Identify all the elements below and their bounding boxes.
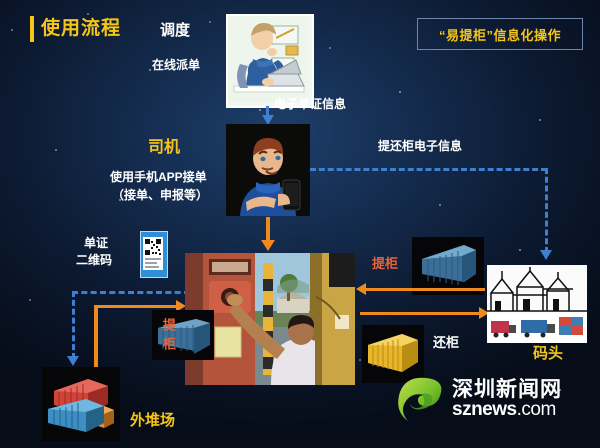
title-accent-bar	[30, 16, 34, 42]
dispatcher-art	[228, 16, 308, 102]
dispatcher-title: 调度	[160, 22, 190, 40]
flow-arrow-qr-to-yard-vertical	[72, 291, 75, 359]
flow-arrow-qr-to-yard-head	[67, 356, 79, 366]
flow-arrow-qr-to-yard-horizontal	[72, 291, 190, 294]
external-yard-photo	[42, 367, 120, 441]
dispatcher-illustration	[226, 14, 314, 108]
watermark-text: 深圳新闻网 sznews.com	[452, 379, 562, 419]
watermark: 深圳新闻网 sznews.com	[392, 372, 562, 426]
port-terminal-art	[487, 265, 587, 343]
external-yard-label: 外堆场	[130, 412, 175, 430]
flow-arrow-driver-to-gate-head	[261, 240, 275, 251]
watermark-tld: .com	[517, 399, 556, 420]
driver-subtitle-line2: （接单、申报等）	[112, 188, 208, 203]
flow-label-pickup-center: 提柜	[160, 318, 176, 356]
header-badge: “易提柜”信息化操作	[417, 18, 583, 50]
flow-arrow-yard-to-gate-vertical	[94, 305, 98, 369]
flow-label-container-einfo: 提还柜电子信息	[378, 139, 462, 154]
watermark-en: sznews.com	[452, 400, 562, 419]
flow-label-pickup-top: 提柜	[372, 256, 398, 272]
watermark-cn: 深圳新闻网	[452, 379, 562, 400]
flow-label-edoc-info: 电子单证信息	[274, 97, 346, 112]
flow-arrow-yard-to-gate-horizontal	[94, 305, 178, 308]
sznews-leaf-logo-icon	[392, 372, 446, 426]
wharf-photo	[487, 265, 587, 343]
qr-label-line1: 单证	[84, 236, 108, 251]
header-badge-label: “易提柜”信息化操作	[439, 25, 561, 44]
flow-arrow-einfo-horizontal	[310, 168, 547, 171]
flow-arrow-wharf-to-gate-head	[356, 283, 366, 295]
driver-title: 司机	[148, 138, 180, 158]
driver-subtitle-line1: 使用手机APP接单	[110, 170, 207, 185]
dispatcher-subtitle: 在线派单	[152, 58, 200, 73]
flow-arrow-einfo-vertical	[545, 168, 548, 253]
flow-arrow-einfo-head	[540, 250, 552, 260]
flow-label-return-container: 还柜	[433, 335, 459, 351]
blue-container-image-top	[412, 237, 484, 295]
wharf-label: 码头	[533, 345, 563, 363]
container-stack-art	[42, 367, 120, 441]
document-qr-phone	[140, 231, 168, 278]
driver-art	[226, 124, 310, 216]
slide-canvas: 使用流程 “易提柜”信息化操作 调度 在线派单 电子单证信息	[0, 0, 600, 448]
qr-label-line2: 二维码	[76, 253, 112, 268]
driver-photo	[226, 124, 310, 216]
flow-arrow-wharf-to-gate	[365, 288, 485, 291]
flow-arrow-gate-to-wharf	[360, 312, 482, 315]
page-title: 使用流程	[41, 17, 121, 40]
shipping-container-icon	[412, 237, 484, 295]
qr-code-icon	[141, 232, 165, 275]
